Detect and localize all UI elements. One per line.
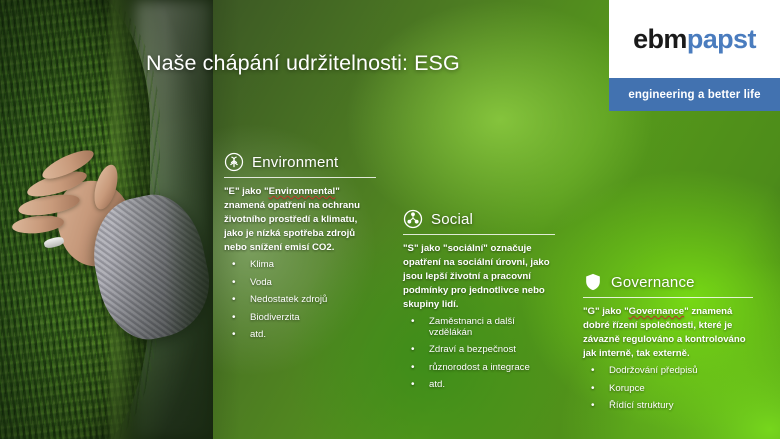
people-network-circle-icon — [403, 209, 423, 229]
esg-block-environment-header: Environment — [224, 152, 376, 172]
slide-root: Naše chápání udržitelnosti: ESG ebmpapst… — [0, 0, 780, 439]
esg-block-environment-title: Environment — [252, 154, 338, 171]
esg-block-environment-body: "E" jako "Environmental" znamená opatřen… — [224, 185, 376, 255]
esg-block-governance-title: Governance — [611, 274, 695, 291]
list-item: Dodržování předpisů — [583, 366, 753, 377]
environment-body-misspelled-word: Environmental — [269, 186, 336, 197]
list-item: Zdraví a bezpečnost — [403, 345, 555, 356]
brand-logo-ebm: ebm — [633, 24, 687, 54]
list-item: Zaměstnanci a další vzdělákán — [403, 317, 555, 338]
brand-logo: ebmpapst — [609, 0, 780, 78]
esg-block-governance-divider — [583, 297, 753, 298]
esg-block-social-title: Social — [431, 211, 473, 228]
governance-body-prefix: "G" jako " — [583, 306, 629, 317]
list-item: Biodiverzita — [224, 313, 376, 324]
governance-body-misspelled-word: Governance — [629, 306, 684, 317]
page-title: Naše chápání udržitelnosti: ESG — [146, 51, 460, 76]
esg-block-environment-bullets: Klima Voda Nedostatek zdrojů Biodiverzit… — [224, 260, 376, 341]
environment-body-prefix: "E" jako " — [224, 186, 269, 197]
brand-logo-papst: papst — [687, 24, 756, 54]
esg-block-governance-header: Governance — [583, 272, 753, 292]
esg-block-social-divider — [403, 234, 555, 235]
esg-block-environment-divider — [224, 177, 376, 178]
esg-block-social-header: Social — [403, 209, 555, 229]
esg-block-governance-body: "G" jako "Governance" znamená dobré říze… — [583, 305, 753, 361]
esg-block-governance-bullets: Dodržování předpisů Korupce Řídící struk… — [583, 366, 753, 412]
sprout-circle-icon — [224, 152, 244, 172]
list-item: Klima — [224, 260, 376, 271]
esg-block-environment: Environment "E" jako "Environmental" zna… — [224, 152, 376, 348]
list-item: atd. — [403, 380, 555, 391]
shield-icon — [583, 272, 603, 292]
list-item: Nedostatek zdrojů — [224, 295, 376, 306]
esg-block-social-body: "S" jako "sociální" označuje opatření na… — [403, 242, 555, 312]
list-item: různorodost a integrace — [403, 363, 555, 374]
brand-logo-text: ebmpapst — [633, 26, 756, 53]
list-item: atd. — [224, 330, 376, 341]
esg-block-social: Social "S" jako "sociální" označuje opat… — [403, 209, 555, 398]
esg-block-social-bullets: Zaměstnanci a další vzdělákán Zdraví a b… — [403, 317, 555, 391]
brand-tagline-text: engineering a better life — [628, 89, 760, 101]
list-item: Korupce — [583, 384, 753, 395]
list-item: Voda — [224, 278, 376, 289]
brand-tagline-banner: engineering a better life — [609, 78, 780, 111]
list-item: Řídící struktury — [583, 401, 753, 412]
esg-block-governance: Governance "G" jako "Governance" znamená… — [583, 272, 753, 419]
